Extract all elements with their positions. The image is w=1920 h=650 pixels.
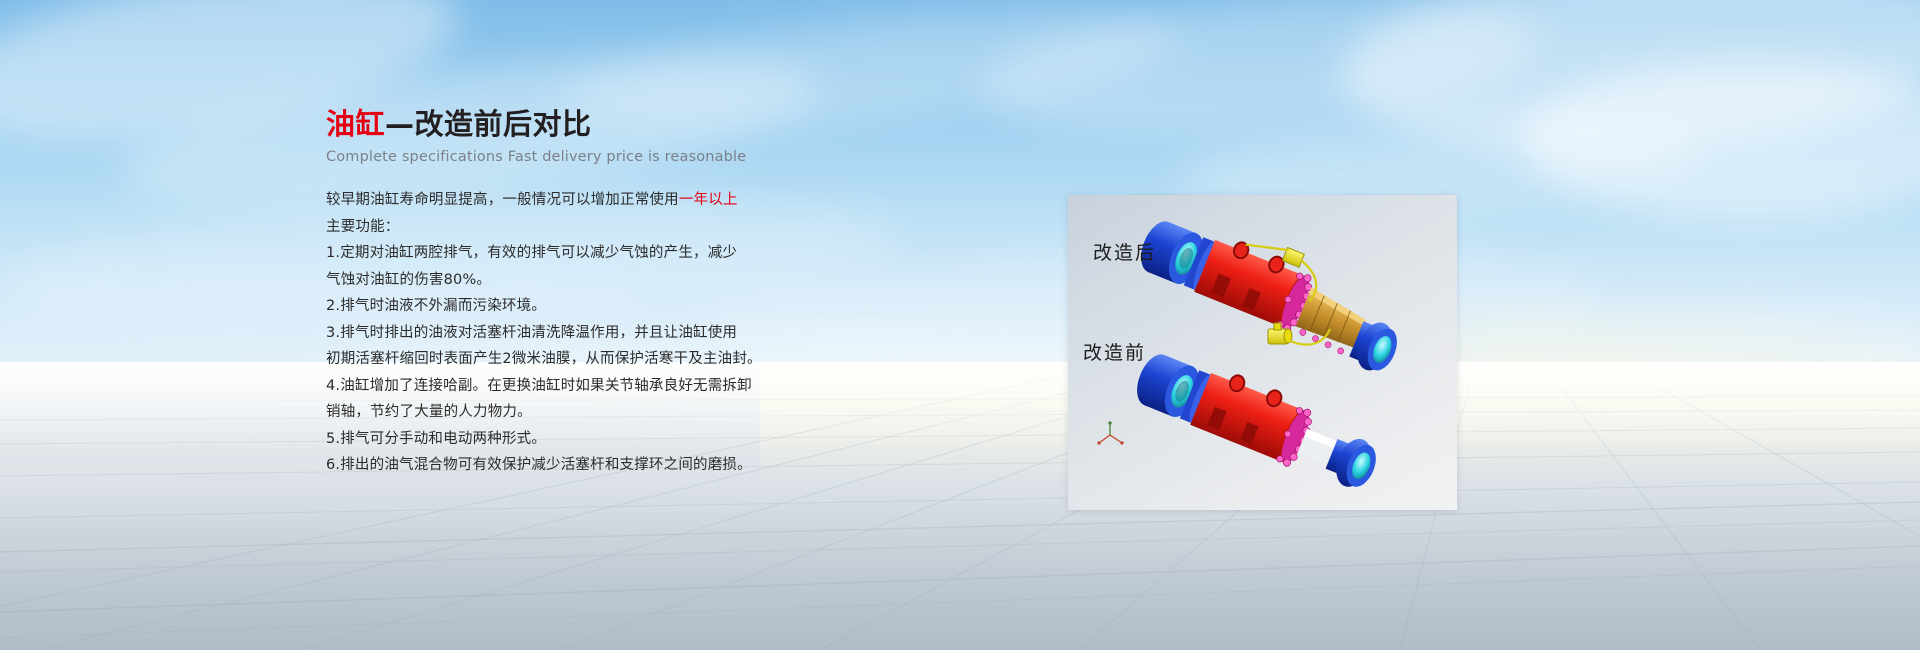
intro-line: 较早期油缸寿命明显提高，一般情况可以增加正常使用一年以上 bbox=[326, 187, 966, 214]
feature-line: 2.排气时油液不外漏而污染环境。 bbox=[326, 293, 966, 320]
feature-line: 销轴，节约了大量的人力物力。 bbox=[326, 399, 966, 426]
page-title-highlight: 油缸 bbox=[326, 107, 385, 141]
label-after-modification: 改造后 bbox=[1093, 238, 1156, 265]
feature-line: 气蚀对油缸的伤害80%。 bbox=[326, 267, 966, 294]
intro-lead-text: 较早期油缸寿命明显提高，一般情况可以增加正常使用 bbox=[326, 192, 679, 208]
feature-line: 初期活塞杆缩回时表面产生2微米油膜，从而保护活寒干及主油封。 bbox=[326, 346, 966, 373]
feature-line: 5.排气可分手动和电动两种形式。 bbox=[326, 426, 966, 453]
feature-line: 6.排出的油气混合物可有效保护减少活塞杆和支撑环之间的磨损。 bbox=[326, 452, 966, 479]
feature-line: 4.油缸增加了连接哈副。在更换油缸时如果关节轴承良好无需拆卸 bbox=[326, 373, 966, 400]
page-title: 油缸—改造前后对比 bbox=[326, 106, 966, 142]
cylinder-after-modification bbox=[1131, 197, 1417, 378]
copy-block: 油缸—改造前后对比 Complete specifications Fast d… bbox=[326, 106, 966, 479]
axis-gizmo-icon bbox=[1097, 421, 1123, 444]
label-before-modification: 改造前 bbox=[1083, 338, 1146, 365]
hero-banner: 油缸—改造前后对比 Complete specifications Fast d… bbox=[0, 0, 1920, 650]
cloud-decoration bbox=[975, 0, 1544, 154]
cloud-decoration bbox=[1334, 0, 1920, 172]
page-title-rest: —改造前后对比 bbox=[385, 107, 592, 141]
cylinder-before-modification bbox=[1129, 341, 1388, 497]
intro-emphasis-text: 一年以上 bbox=[679, 192, 738, 208]
feature-line: 1.定期对油缸两腔排气，有效的排气可以减少气蚀的产生，减少 bbox=[326, 240, 966, 267]
comparison-image-panel: 改造后 改造前 bbox=[1068, 195, 1457, 510]
feature-line: 3.排气时排出的油液对活塞杆油清洗降温作用，并且让油缸使用 bbox=[326, 320, 966, 347]
functions-heading: 主要功能： bbox=[326, 214, 966, 241]
cloud-decoration bbox=[1520, 60, 1920, 220]
page-subtitle: Complete specifications Fast delivery pr… bbox=[326, 147, 966, 167]
ground-shading bbox=[0, 490, 1920, 650]
body-copy: 较早期油缸寿命明显提高，一般情况可以增加正常使用一年以上 主要功能： 1.定期对… bbox=[326, 187, 966, 479]
